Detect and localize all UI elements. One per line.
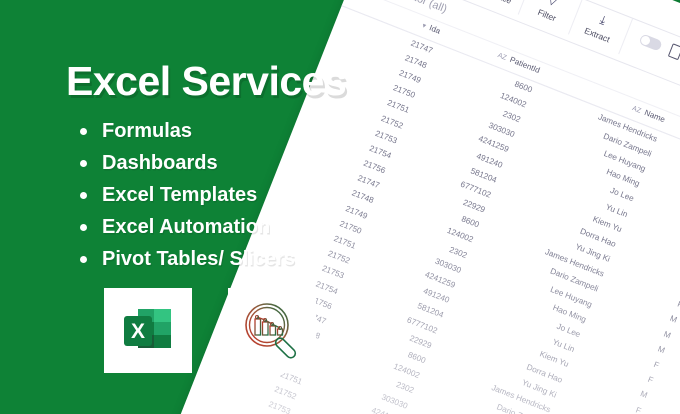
list-item: Pivot Tables/ Slicers	[78, 248, 295, 270]
service-label-dashboards: Dashboards	[102, 152, 218, 174]
service-label-excel-automation: Excel Automation	[102, 216, 270, 238]
service-label-pivot-tables-slicers: Pivot Tables/ Slicers	[102, 248, 295, 270]
page-title: Excel Services	[66, 58, 346, 105]
service-list: Formulas Dashboards Excel Templates Exce…	[78, 120, 295, 280]
list-item: Excel Automation	[78, 216, 295, 238]
data-analysis-tile	[228, 288, 316, 373]
service-label-excel-templates: Excel Templates	[102, 184, 257, 206]
document-icon[interactable]	[668, 43, 680, 60]
column-label-name: Name	[643, 108, 666, 124]
sort-indicator-patientid: AZ	[497, 52, 508, 62]
svg-text:X: X	[131, 320, 145, 343]
excel-logo-icon: X	[117, 300, 179, 362]
sort-indicator-id: ▾	[421, 22, 427, 30]
service-label-formulas: Formulas	[102, 120, 192, 142]
sort-indicator-name: AZ	[631, 105, 642, 115]
magnifier-bar-chart-icon	[239, 298, 305, 364]
toggle-switch-icon[interactable]	[639, 33, 664, 51]
list-item: Dashboards	[78, 152, 295, 174]
hero-content: Excel Services Formulas Dashboards Excel…	[0, 0, 400, 414]
list-item: Excel Templates	[78, 184, 295, 206]
excel-logo-tile: X	[104, 288, 192, 373]
column-label-id: Ida	[428, 23, 442, 35]
promo-banner: Sample File ⬒ Export ⧉ Open ↺ Replace ▽ …	[0, 0, 680, 414]
list-item: Formulas	[78, 120, 295, 142]
